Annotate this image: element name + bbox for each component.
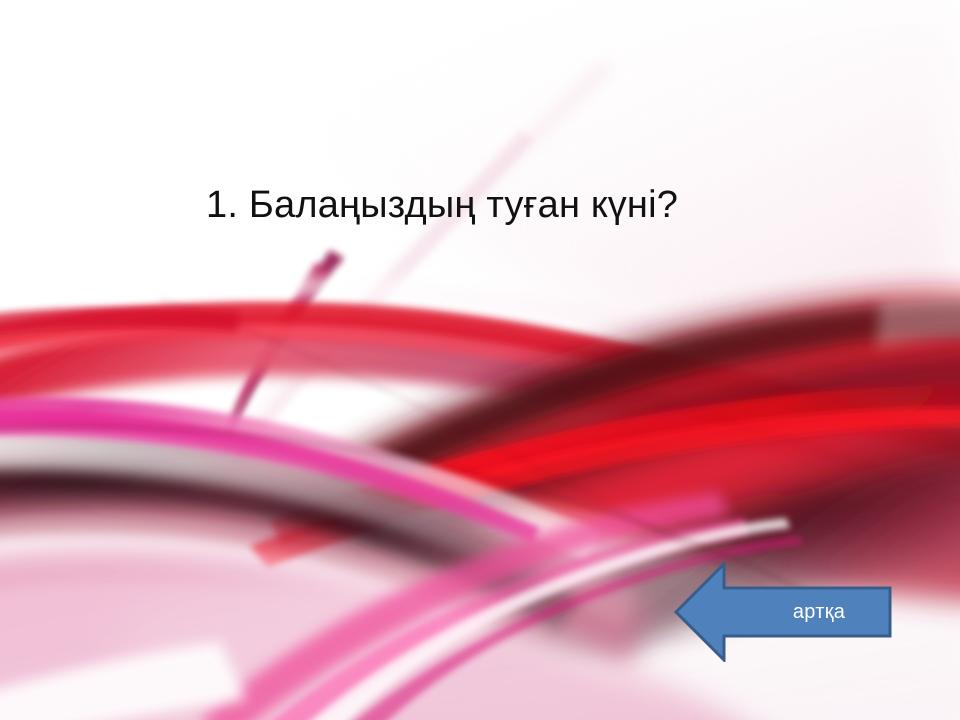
back-button[interactable]: артқа [674,562,892,662]
page-title: 1. Балаңыздың туған күні? [206,182,806,228]
slide-canvas: 1. Балаңыздың туған күні? артқа [0,0,960,720]
arrow-left-icon[interactable] [674,562,892,662]
slide-title-block: 1. Балаңыздың туған күні? [206,182,806,228]
